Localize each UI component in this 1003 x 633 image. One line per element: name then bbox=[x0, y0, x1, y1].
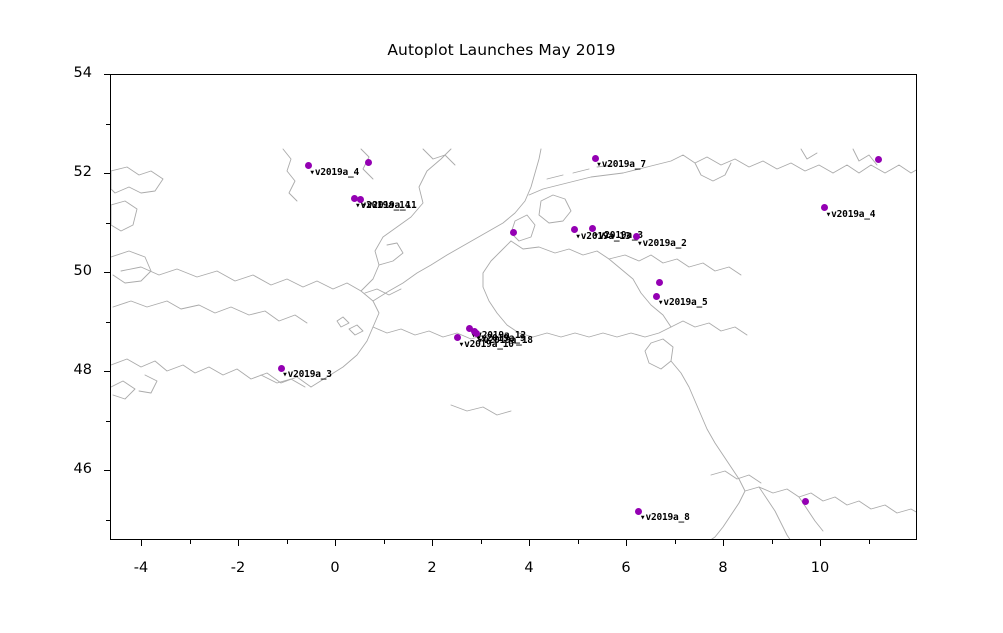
scatter-point-label: ▾v2019a_9 bbox=[476, 333, 526, 344]
x-tick-minor bbox=[384, 540, 385, 544]
scatter-point bbox=[656, 279, 663, 286]
x-tick-label: -2 bbox=[208, 560, 268, 576]
scatter-point-label: ▾v2019a_11 bbox=[361, 200, 416, 211]
scatter-points-layer: ▾v2019a_4▾v2019a_14▾v2019a_11▾v2019a_7▾v… bbox=[110, 74, 917, 540]
x-tick-minor bbox=[287, 540, 288, 544]
scatter-point bbox=[365, 159, 372, 166]
x-tick-label: 0 bbox=[305, 560, 365, 576]
y-tick-label: 54 bbox=[40, 65, 92, 81]
scatter-point bbox=[510, 229, 517, 236]
x-tick-label: 4 bbox=[499, 560, 559, 576]
x-tick-major bbox=[820, 540, 821, 546]
page-title: Autoplot Launches May 2019 bbox=[0, 41, 1003, 59]
scatter-point-label: ▾v2019a_4 bbox=[309, 167, 359, 178]
x-tick-major bbox=[529, 540, 530, 546]
x-tick-major bbox=[141, 540, 142, 546]
x-tick-minor bbox=[481, 540, 482, 544]
x-tick-major bbox=[723, 540, 724, 546]
matplotlib-figure: Autoplot Launches May 2019 bbox=[0, 0, 1003, 633]
x-tick-minor bbox=[772, 540, 773, 544]
x-tick-label: -4 bbox=[111, 560, 171, 576]
scatter-point-label: ▾v2019a_2 bbox=[637, 238, 687, 249]
x-tick-label: 6 bbox=[596, 560, 656, 576]
y-tick-label: 52 bbox=[40, 164, 92, 180]
scatter-point-label: ▾v2019a_4 bbox=[826, 209, 876, 220]
x-tick-minor bbox=[190, 540, 191, 544]
scatter-point-label: ▾v2019a_3 bbox=[282, 369, 332, 380]
y-tick-label: 50 bbox=[40, 263, 92, 279]
x-tick-minor bbox=[578, 540, 579, 544]
x-tick-minor bbox=[675, 540, 676, 544]
scatter-point bbox=[802, 498, 809, 505]
x-tick-minor bbox=[869, 540, 870, 544]
x-tick-major bbox=[238, 540, 239, 546]
scatter-point-label: ▾v2019a_5 bbox=[658, 297, 708, 308]
scatter-point-label: ▾v2019a_7 bbox=[596, 159, 646, 170]
scatter-point bbox=[875, 156, 882, 163]
y-tick-label: 48 bbox=[40, 362, 92, 378]
x-tick-label: 2 bbox=[402, 560, 462, 576]
x-tick-major bbox=[626, 540, 627, 546]
scatter-point-label: ▾v2019a_8 bbox=[640, 512, 690, 523]
x-tick-major bbox=[335, 540, 336, 546]
x-tick-label: 10 bbox=[790, 560, 850, 576]
y-tick-label: 46 bbox=[40, 461, 92, 477]
x-tick-major bbox=[432, 540, 433, 546]
x-tick-label: 8 bbox=[693, 560, 753, 576]
